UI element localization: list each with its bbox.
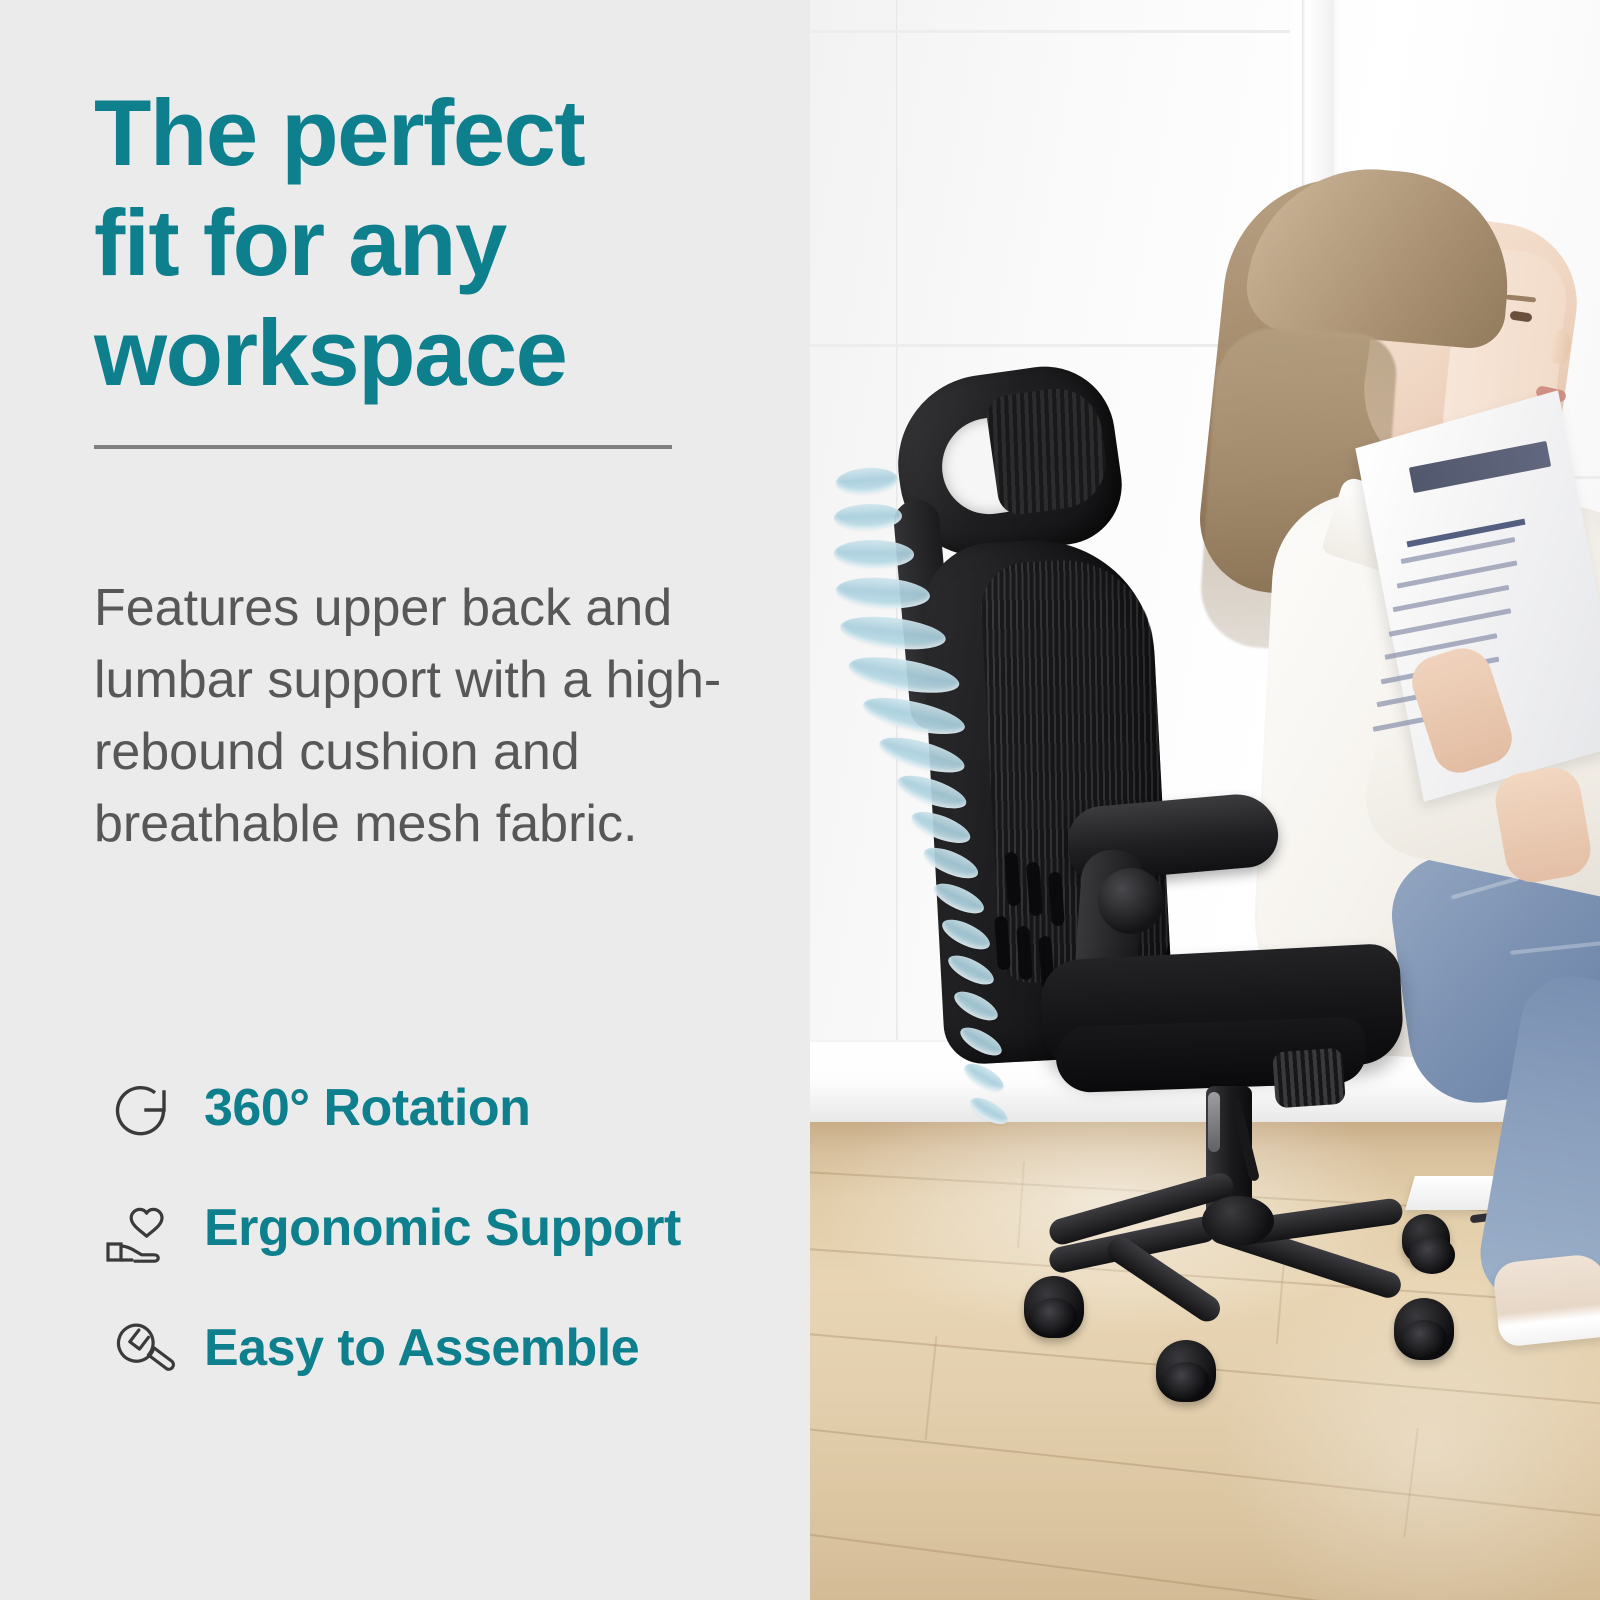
page-title: The perfect fit for any workspace (94, 78, 754, 408)
body-description: Features upper back and lumbar support w… (94, 572, 734, 860)
wrench-icon (94, 1300, 190, 1396)
feature-list: 360° Rotation Ergonomic Support (94, 1048, 794, 1408)
rotation-arrow-icon (94, 1060, 190, 1156)
feature-label-ergonomic: Ergonomic Support (204, 1198, 681, 1258)
feature-label-rotation: 360° Rotation (204, 1078, 530, 1138)
feature-item-ergonomic: Ergonomic Support (94, 1168, 794, 1288)
feature-item-assembly: Easy to Assemble (94, 1288, 794, 1408)
feature-label-assembly: Easy to Assemble (204, 1318, 639, 1378)
product-feature-banner: The perfect fit for any workspace Featur… (0, 0, 1600, 1600)
product-lifestyle-photo (810, 0, 1600, 1600)
feature-item-rotation: 360° Rotation (94, 1048, 794, 1168)
spine-alignment-graphic (810, 0, 1600, 1600)
hand-heart-icon (94, 1180, 190, 1276)
title-divider (94, 445, 672, 449)
left-text-panel: The perfect fit for any workspace Featur… (0, 0, 810, 1600)
